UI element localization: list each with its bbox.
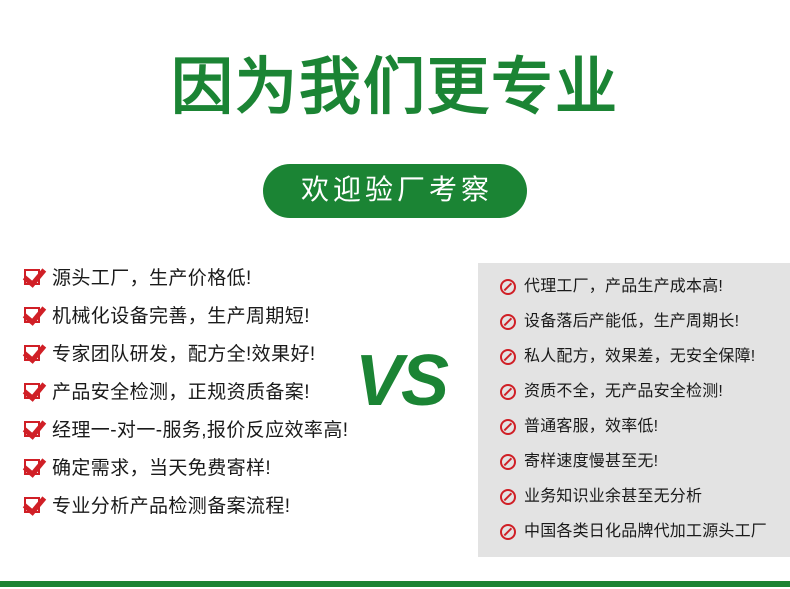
con-item-label: 私人配方，效果差，无安全保障! <box>524 345 755 369</box>
con-item-label: 代理工厂，产品生产成本高! <box>524 275 723 299</box>
con-item-label: 资质不全，无产品安全检测! <box>524 380 723 404</box>
no-entry-icon <box>500 485 524 505</box>
no-entry-icon <box>500 380 524 400</box>
list-item: 源头工厂，生产价格低! <box>24 265 454 299</box>
check-square-icon <box>24 265 52 285</box>
pro-item-label: 专业分析产品检测备案流程! <box>52 493 290 521</box>
list-item: 业务知识业余甚至无分析 <box>500 485 790 516</box>
check-square-icon <box>24 493 52 513</box>
con-item-label: 普通客服，效率低! <box>524 415 658 439</box>
check-square-icon <box>24 417 52 437</box>
list-item: 普通客服，效率低! <box>500 415 790 446</box>
no-entry-icon <box>500 415 524 435</box>
list-item: 寄样速度慢甚至无! <box>500 450 790 481</box>
no-entry-icon <box>500 520 524 540</box>
pro-item-label: 专家团队研发，配方全!效果好! <box>52 341 316 369</box>
list-item: 代理工厂，产品生产成本高! <box>500 275 790 306</box>
welcome-inspection-badge: 欢迎验厂考察 <box>263 164 527 218</box>
pro-item-label: 机械化设备完善，生产周期短! <box>52 303 310 331</box>
pro-item-label: 经理一-对一-服务,报价反应效率高! <box>52 417 348 445</box>
badge-container: 欢迎验厂考察 <box>0 164 790 218</box>
list-item: 设备落后产能低，生产周期长! <box>500 310 790 341</box>
con-item-label: 中国各类日化品牌代加工源头工厂 <box>524 520 767 544</box>
pro-item-label: 源头工厂，生产价格低! <box>52 265 252 293</box>
no-entry-icon <box>500 275 524 295</box>
check-square-icon <box>24 455 52 475</box>
pro-item-label: 产品安全检测，正规资质备案! <box>52 379 310 407</box>
con-item-label: 设备落后产能低，生产周期长! <box>524 310 739 334</box>
list-item: 私人配方，效果差，无安全保障! <box>500 345 790 376</box>
list-item: 资质不全，无产品安全检测! <box>500 380 790 411</box>
pro-item-label: 确定需求，当天免费寄样! <box>52 455 271 483</box>
no-entry-icon <box>500 345 524 365</box>
list-item: 中国各类日化品牌代加工源头工厂 <box>500 520 790 551</box>
con-item-label: 寄样速度慢甚至无! <box>524 450 658 474</box>
page-title: 因为我们更专业 <box>0 52 790 124</box>
promo-banner: 因为我们更专业 欢迎验厂考察 源头工厂，生产价格低! 机械化设备完善，生产周期短… <box>0 0 790 589</box>
list-item: 机械化设备完善，生产周期短! <box>24 303 454 337</box>
cons-list: 代理工厂，产品生产成本高! 设备落后产能低，生产周期长! 私人配方，效果差，无安… <box>500 275 790 555</box>
no-entry-icon <box>500 450 524 470</box>
list-item: 专业分析产品检测备案流程! <box>24 493 454 527</box>
con-item-label: 业务知识业余甚至无分析 <box>524 485 702 509</box>
cons-panel: 代理工厂，产品生产成本高! 设备落后产能低，生产周期长! 私人配方，效果差，无安… <box>478 263 790 557</box>
bottom-divider <box>0 581 790 587</box>
vs-label: VS <box>355 345 447 417</box>
check-square-icon <box>24 379 52 399</box>
list-item: 经理一-对一-服务,报价反应效率高! <box>24 417 454 451</box>
no-entry-icon <box>500 310 524 330</box>
check-square-icon <box>24 341 52 361</box>
list-item: 确定需求，当天免费寄样! <box>24 455 454 489</box>
check-square-icon <box>24 303 52 323</box>
